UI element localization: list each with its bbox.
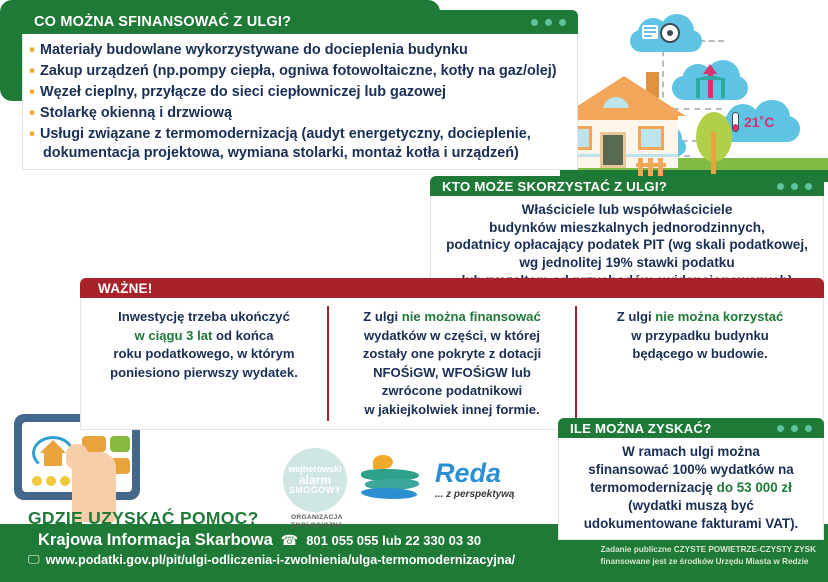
list-item-label: Zakup urządzeń (np.pompy ciepła, ogniwa … — [40, 62, 557, 81]
where-to-get-help-heading: GDZIE UZYSKAĆ POMOC? — [28, 508, 259, 529]
panel-title-text: CO MOŻNA SFINANSOWAĆ Z ULGI? — [34, 14, 291, 30]
list-item-label: Usługi związane z termomodernizacją (aud… — [40, 125, 531, 144]
dot-icon — [805, 425, 812, 432]
reda-tagline: ... z perspektywą — [435, 489, 514, 500]
reda-name: Reda — [435, 460, 514, 487]
important-line-pre: Z ulgi — [617, 309, 656, 324]
phone-icon: ☎ — [281, 532, 298, 549]
contact-line: Krajowa Informacja Skarbowa ☎ 801 055 05… — [38, 531, 481, 550]
important-line: zostały one pokryte z dotacji — [335, 345, 569, 364]
important-line: Inwestycję trzeba ukończyć — [87, 308, 321, 327]
highlight-text: nie można finansować — [402, 309, 541, 324]
panel-body-how-much-gain: W ramach ulgi można sfinansować 100% wyd… — [558, 438, 824, 540]
monitor-icon: 🖵 — [28, 552, 40, 567]
who-line: podatnicy opłacający podatek PIT (wg ska… — [439, 236, 815, 254]
gain-line: udokumentowane fakturami VAT). — [565, 515, 817, 533]
cloud-hvac-icon — [630, 14, 702, 54]
panel-header-important: WAŻNE! — [80, 278, 824, 298]
important-line-pre: Z ulgi — [363, 309, 402, 324]
infographic-poster: 21˚C $ $ — [0, 0, 828, 582]
highlight-text: do 53 000 zł — [717, 480, 792, 495]
important-column-2: Z ulgi nie można finansować wydatków w c… — [327, 306, 575, 421]
funding-note-line1: Zadanie publiczne CZYSTE POWIETRZE-CZYST… — [601, 544, 816, 556]
bullet-icon: ▪ — [29, 125, 35, 143]
list-item: ▪ Usługi związane z termomodernizacją (a… — [29, 125, 571, 144]
panel-body-important: Inwestycję trzeba ukończyć w ciągu 3 lat… — [80, 298, 824, 430]
phone-number: 801 055 055 lub 22 330 03 30 — [306, 533, 481, 548]
important-line: w przypadku budynku — [583, 327, 817, 346]
list-item-label: Materiały budowlane wykorzystywane do do… — [40, 41, 468, 60]
important-line: zwrócone podatnikowi — [335, 382, 569, 401]
who-line: wg jednolitej 19% stawki podatku — [439, 254, 815, 272]
reda-wordmark: Reda ... z perspektywą — [435, 460, 514, 500]
organizacja-ekologiczna-caption: ORGANIZACJA EKOLOGICZNA — [291, 514, 343, 530]
dot-icon — [559, 19, 566, 26]
important-line: będącego w budowie. — [583, 345, 817, 364]
dot-icon — [545, 19, 552, 26]
list-item: ▪ Stolarkę okienną i drzwiową — [29, 104, 571, 123]
dot-icon — [791, 425, 798, 432]
house-illustration — [560, 62, 690, 172]
list-item-label: Węzeł cieplny, przyłącze do sieci ciepło… — [40, 83, 446, 102]
important-line: poniesiono pierwszy wydatek. — [87, 364, 321, 383]
dot-icon — [791, 183, 798, 190]
who-line: budynków mieszkalnych jednorodzinnych, — [439, 219, 815, 237]
highlight-text: w ciągu 3 lat — [135, 328, 213, 343]
panel-body-what-can-be-financed: ▪ Materiały budowlane wykorzystywane do … — [22, 34, 578, 170]
list-item-label: Stolarkę okienną i drzwiową — [40, 104, 232, 123]
panel-header-who-can-benefit: KTO MOŻE SKORZYSTAĆ Z ULGI? — [430, 176, 824, 196]
header-dots — [777, 425, 812, 432]
header-dots — [777, 183, 812, 190]
panel-title-text: WAŻNE! — [98, 281, 152, 296]
finger-illustration — [66, 444, 88, 470]
important-column-1: Inwestycję trzeba ukończyć w ciągu 3 lat… — [81, 306, 327, 421]
important-line: w jakiejkolwiek innej formie. — [335, 401, 569, 420]
reda-mark-icon — [361, 455, 421, 505]
gain-line: W ramach ulgi można — [565, 443, 817, 461]
gain-line: (wydatki muszą być — [565, 497, 817, 515]
panel-title-text: ILE MOŻNA ZYSKAĆ? — [570, 421, 711, 436]
panel-header-how-much-gain: ILE MOŻNA ZYSKAĆ? — [558, 418, 824, 438]
important-line: Z ulgi nie można korzystać — [583, 308, 817, 327]
list-item: ▪ Zakup urządzeń (np.pompy ciepła, ogniw… — [29, 62, 571, 81]
bullet-icon: ▪ — [29, 104, 35, 122]
important-line-rest: od końca — [212, 328, 273, 343]
important-line: Z ulgi nie można finansować — [335, 308, 569, 327]
wejherowski-alarm-smogowy-logo: wejherowski alarm SMOGOWY — [283, 448, 347, 512]
bullet-icon: ▪ — [29, 83, 35, 101]
org-eko-line2: EKOLOGICZNA — [291, 522, 343, 530]
list-item-continuation: dokumentacja projektowa, wymiana stolark… — [43, 144, 571, 163]
tree-illustration — [694, 112, 734, 174]
list-item: ▪ Węzeł cieplny, przyłącze do sieci ciep… — [29, 83, 571, 102]
panel-header-what-can-be-financed: CO MOŻNA SFINANSOWAĆ Z ULGI? — [22, 10, 578, 34]
website-url[interactable]: www.podatki.gov.pl/pit/ulgi-odliczenia-i… — [46, 553, 516, 567]
header-dots — [531, 19, 566, 26]
who-line: Właściciele lub współwłaściciele — [439, 201, 815, 219]
gain-line: termomodernizację do 53 000 zł — [565, 479, 817, 497]
panel-important: WAŻNE! Inwestycję trzeba ukończyć w ciąg… — [80, 278, 824, 430]
tax-information-office-name: Krajowa Informacja Skarbowa — [38, 531, 273, 550]
dot-icon — [805, 183, 812, 190]
important-line: wydatków w części, w której — [335, 327, 569, 346]
list-item: ▪ Materiały budowlane wykorzystywane do … — [29, 41, 571, 60]
important-line: w ciągu 3 lat od końca — [87, 327, 321, 346]
logo-row: wejherowski alarm SMOGOWY ORGANIZACJA EK… — [283, 440, 553, 520]
important-line: NFOŚiGW, WFOŚiGW lub — [335, 364, 569, 383]
panel-what-can-be-financed: CO MOŻNA SFINANSOWAĆ Z ULGI? ▪ Materiały… — [22, 10, 578, 170]
org-eko-line1: ORGANIZACJA — [291, 514, 343, 522]
temperature-label: 21˚C — [744, 114, 774, 130]
bullet-icon: ▪ — [29, 41, 35, 59]
panel-title-text: KTO MOŻE SKORZYSTAĆ Z ULGI? — [442, 179, 667, 194]
website-line[interactable]: 🖵 www.podatki.gov.pl/pit/ulgi-odliczenia… — [28, 552, 515, 567]
important-column-3: Z ulgi nie można korzystać w przypadku b… — [575, 306, 823, 421]
funding-note-line2: finansowane jest ze środków Urzędu Miast… — [601, 556, 816, 568]
bullet-icon: ▪ — [29, 62, 35, 80]
funding-note: Zadanie publiczne CZYSTE POWIETRZE-CZYST… — [601, 544, 816, 568]
gain-line-pre: termomodernizację — [590, 480, 717, 495]
dot-icon — [777, 183, 784, 190]
dot-icon — [531, 19, 538, 26]
panel-how-much-gain: ILE MOŻNA ZYSKAĆ? W ramach ulgi można sf… — [558, 418, 824, 540]
logo-line3: SMOGOWY — [289, 486, 342, 495]
gain-line: sfinansować 100% wydatków na — [565, 461, 817, 479]
highlight-text: nie można korzystać — [655, 309, 783, 324]
important-line: roku podatkowego, w którym — [87, 345, 321, 364]
dot-icon — [777, 425, 784, 432]
